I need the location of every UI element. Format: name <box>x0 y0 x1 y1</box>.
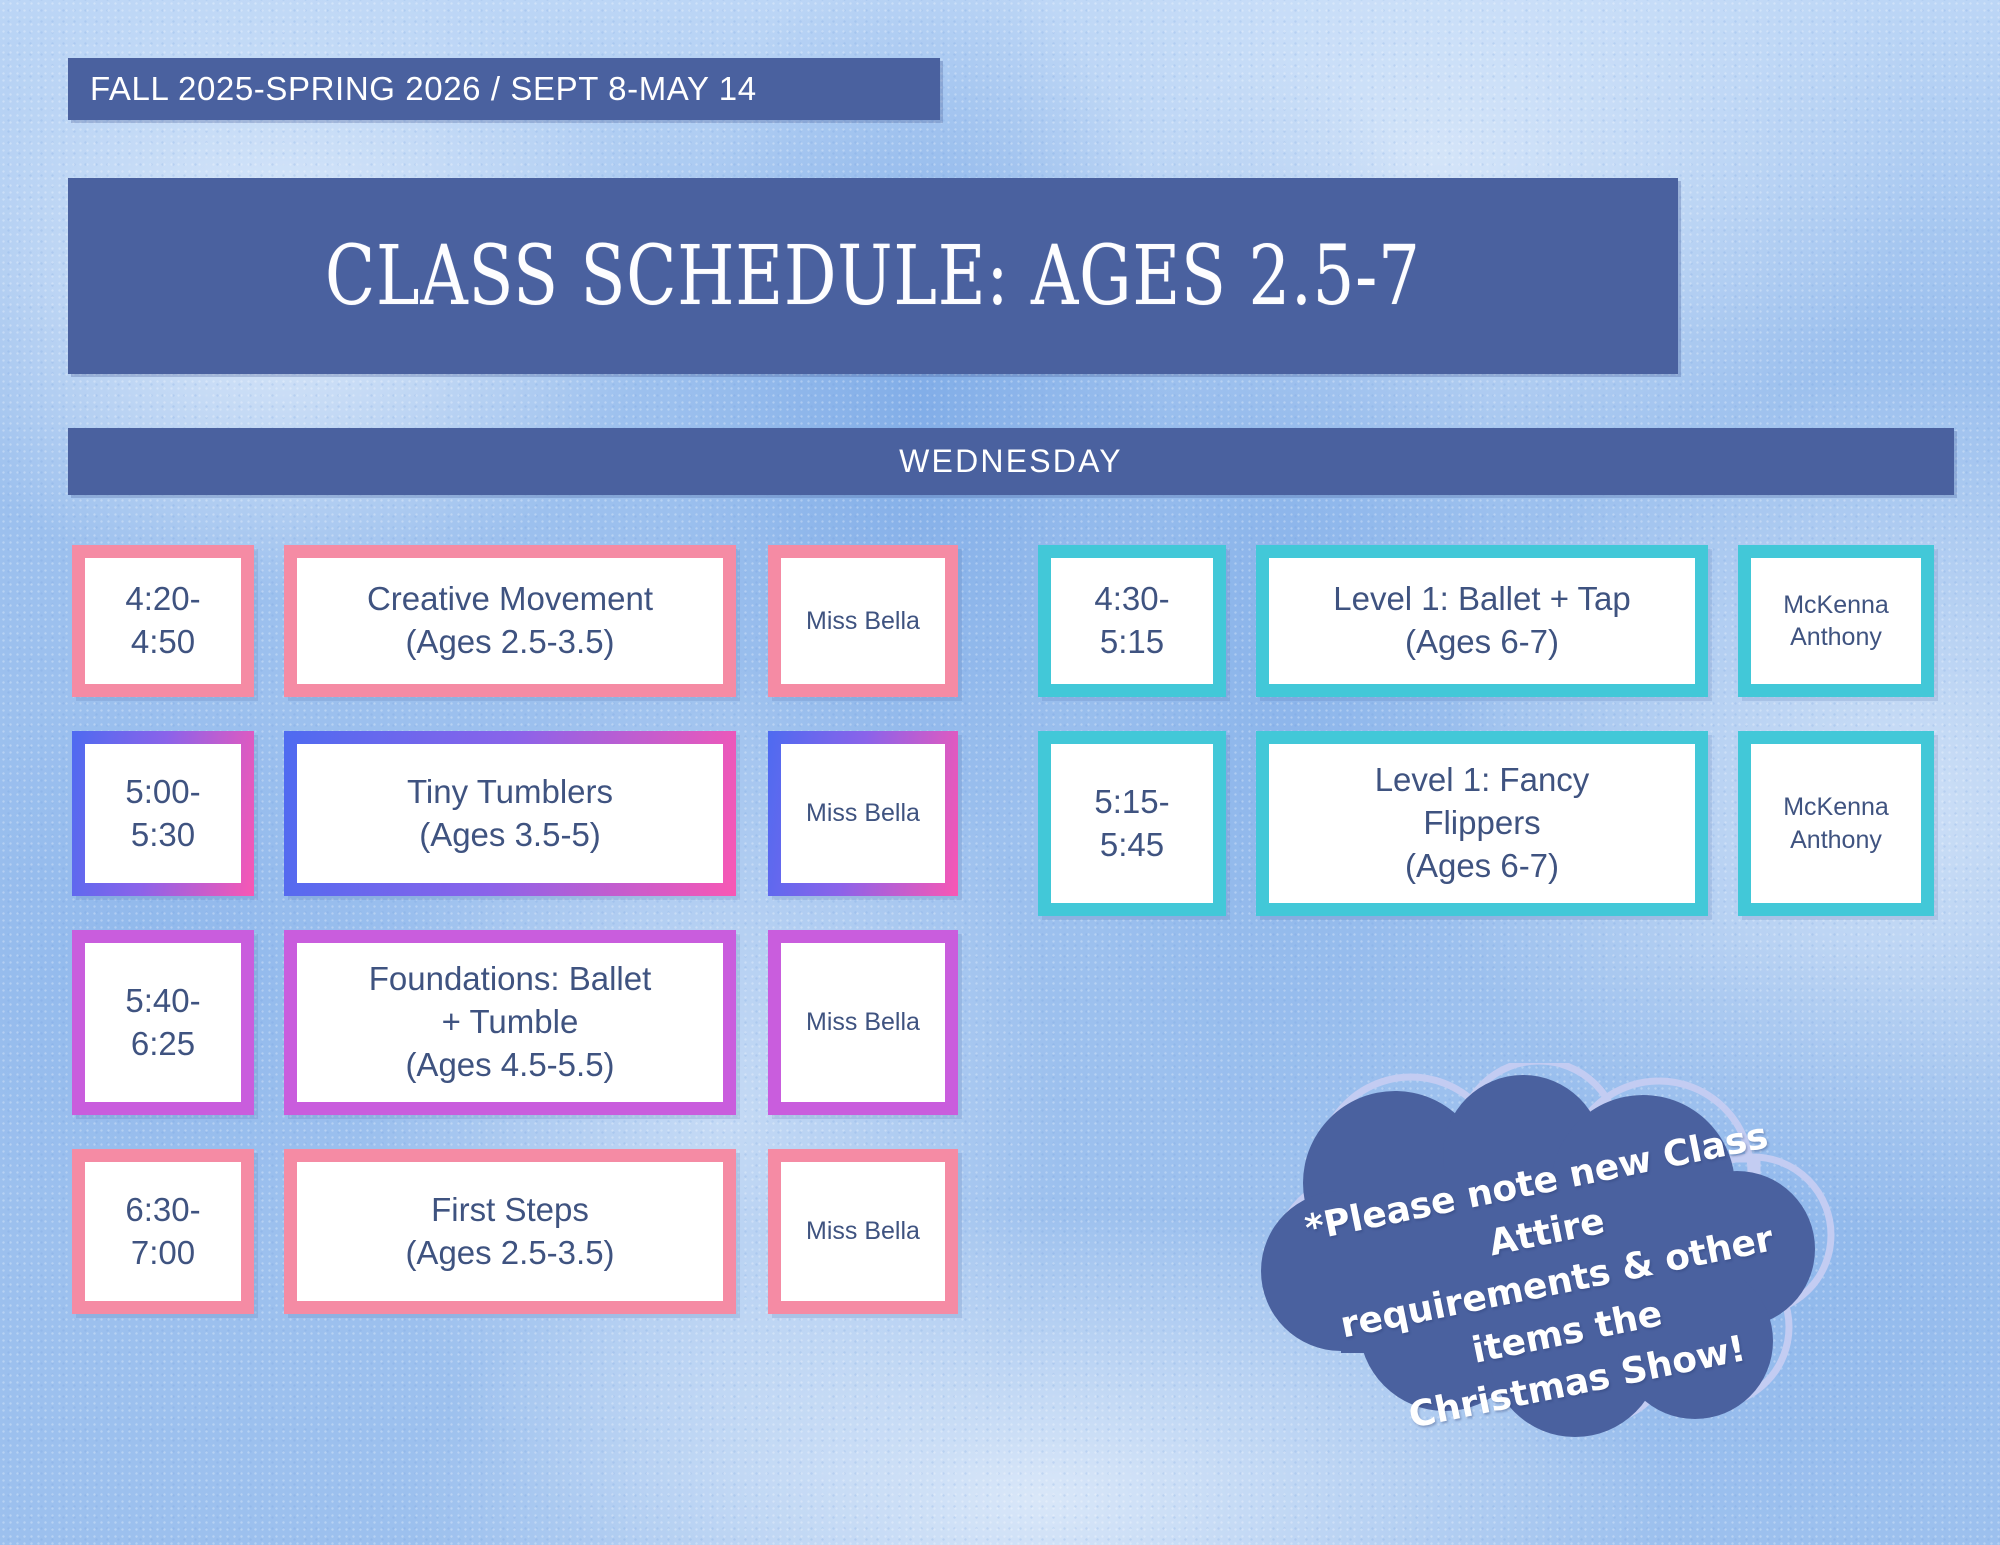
class-row: 5:15-5:45 Level 1: FancyFlippers(Ages 6-… <box>1038 731 1954 916</box>
time-line-1: 5:40- <box>125 982 200 1019</box>
class-ages: (Ages 3.5-5) <box>419 816 601 853</box>
schedule-column-left: 4:20-4:50 Creative Movement(Ages 2.5-3.5… <box>72 545 982 1348</box>
time-card-text: 6:30-7:00 <box>85 1162 241 1301</box>
schedule-poster: FALL 2025-SPRING 2026 / SEPT 8-MAY 14 CL… <box>0 0 2000 1545</box>
time-card: 4:20-4:50 <box>72 545 254 697</box>
date-range-banner: FALL 2025-SPRING 2026 / SEPT 8-MAY 14 <box>68 58 940 120</box>
instructor-name: Miss Bella <box>781 943 945 1102</box>
time-line-1: 5:15- <box>1094 783 1169 820</box>
class-card: Creative Movement(Ages 2.5-3.5) <box>284 545 736 697</box>
class-card-text: Level 1: FancyFlippers(Ages 6-7) <box>1269 744 1695 903</box>
time-card: 5:15-5:45 <box>1038 731 1226 916</box>
class-card-text: Level 1: Ballet + Tap(Ages 6-7) <box>1269 558 1695 684</box>
class-card: Foundations: Ballet+ Tumble(Ages 4.5-5.5… <box>284 930 736 1115</box>
date-range-label: FALL 2025-SPRING 2026 / SEPT 8-MAY 14 <box>90 70 757 108</box>
class-card-text: Tiny Tumblers(Ages 3.5-5) <box>297 744 723 883</box>
class-card-text: First Steps(Ages 2.5-3.5) <box>297 1162 723 1301</box>
class-name: Tiny Tumblers <box>407 773 613 810</box>
class-name: Foundations: Ballet <box>369 960 652 997</box>
schedule-column-right: 4:30-5:15 Level 1: Ballet + Tap(Ages 6-7… <box>1038 545 1954 950</box>
day-label: WEDNESDAY <box>899 443 1123 480</box>
class-row: 6:30-7:00 First Steps(Ages 2.5-3.5) Miss… <box>72 1149 982 1314</box>
class-ages: (Ages 2.5-3.5) <box>405 1234 614 1271</box>
time-card-text: 5:15-5:45 <box>1051 744 1213 903</box>
page-title: CLASS SCHEDULE: AGES 2.5-7 <box>325 229 1421 324</box>
instructor-name: McKennaAnthony <box>1751 558 1921 684</box>
time-card-text: 4:30-5:15 <box>1051 558 1213 684</box>
class-row: 5:00-5:30 Tiny Tumblers(Ages 3.5-5) Miss… <box>72 731 982 896</box>
instructor-line-1: McKenna <box>1783 793 1889 821</box>
instructor-card: Miss Bella <box>768 1149 958 1314</box>
class-row: 5:40-6:25 Foundations: Ballet+ Tumble(Ag… <box>72 930 982 1115</box>
class-row: 4:20-4:50 Creative Movement(Ages 2.5-3.5… <box>72 545 982 697</box>
instructor-card: McKennaAnthony <box>1738 545 1934 697</box>
class-card: Level 1: Ballet + Tap(Ages 6-7) <box>1256 545 1708 697</box>
class-name: Level 1: Fancy <box>1375 761 1590 798</box>
class-name: Level 1: Ballet + Tap <box>1333 580 1631 617</box>
time-line-1: 6:30- <box>125 1191 200 1228</box>
class-ages: (Ages 2.5-3.5) <box>405 623 614 660</box>
time-line-2: 5:15 <box>1100 623 1164 660</box>
class-row: 4:30-5:15 Level 1: Ballet + Tap(Ages 6-7… <box>1038 545 1954 697</box>
class-card-text: Creative Movement(Ages 2.5-3.5) <box>297 558 723 684</box>
class-ages: (Ages 4.5-5.5) <box>405 1046 614 1083</box>
instructor-name: McKennaAnthony <box>1751 744 1921 903</box>
class-name-line-2: + Tumble <box>442 1003 579 1040</box>
class-name: First Steps <box>431 1191 589 1228</box>
class-ages: (Ages 6-7) <box>1405 623 1559 660</box>
class-card: First Steps(Ages 2.5-3.5) <box>284 1149 736 1314</box>
class-name-line-2: Flippers <box>1423 804 1540 841</box>
day-banner: WEDNESDAY <box>68 428 1954 495</box>
time-card-text: 4:20-4:50 <box>85 558 241 684</box>
time-line-2: 5:30 <box>131 816 195 853</box>
time-line-1: 5:00- <box>125 773 200 810</box>
title-banner: CLASS SCHEDULE: AGES 2.5-7 <box>68 178 1678 374</box>
time-line-1: 4:20- <box>125 580 200 617</box>
instructor-line-2: Anthony <box>1790 623 1882 651</box>
instructor-name: Miss Bella <box>781 1162 945 1301</box>
time-card: 6:30-7:00 <box>72 1149 254 1314</box>
instructor-line-1: McKenna <box>1783 591 1889 619</box>
time-card-text: 5:40-6:25 <box>85 943 241 1102</box>
time-line-2: 4:50 <box>131 623 195 660</box>
time-card: 4:30-5:15 <box>1038 545 1226 697</box>
time-card-text: 5:00-5:30 <box>85 744 241 883</box>
time-line-2: 7:00 <box>131 1234 195 1271</box>
class-ages: (Ages 6-7) <box>1405 847 1559 884</box>
time-line-1: 4:30- <box>1094 580 1169 617</box>
class-card: Tiny Tumblers(Ages 3.5-5) <box>284 731 736 896</box>
class-name: Creative Movement <box>367 580 653 617</box>
cloud-callout: *Please note new Class Attire requiremen… <box>1245 1063 1865 1463</box>
instructor-card: Miss Bella <box>768 930 958 1115</box>
instructor-line-2: Anthony <box>1790 826 1882 854</box>
class-card: Level 1: FancyFlippers(Ages 6-7) <box>1256 731 1708 916</box>
instructor-card: Miss Bella <box>768 731 958 896</box>
time-card: 5:00-5:30 <box>72 731 254 896</box>
instructor-card: Miss Bella <box>768 545 958 697</box>
instructor-name: Miss Bella <box>781 744 945 883</box>
time-card: 5:40-6:25 <box>72 930 254 1115</box>
time-line-2: 6:25 <box>131 1025 195 1062</box>
instructor-card: McKennaAnthony <box>1738 731 1934 916</box>
instructor-name: Miss Bella <box>781 558 945 684</box>
time-line-2: 5:45 <box>1100 826 1164 863</box>
class-card-text: Foundations: Ballet+ Tumble(Ages 4.5-5.5… <box>297 943 723 1102</box>
